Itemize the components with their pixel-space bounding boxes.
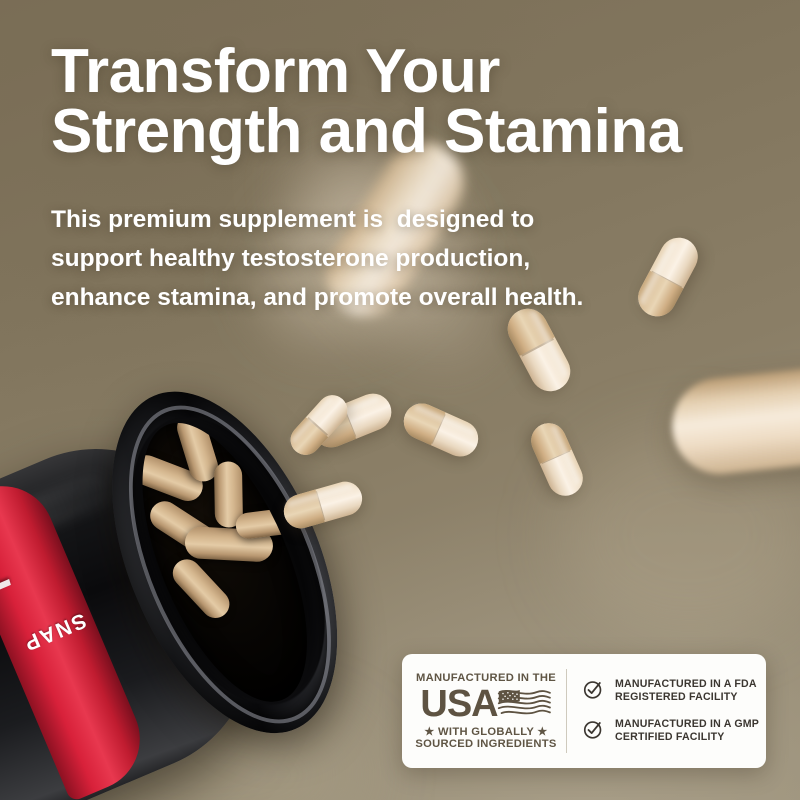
claim-text-fda: MANUFACTURED IN A FDA REGISTERED FACILIT… xyxy=(615,678,757,705)
certification-claim-gmp: MANUFACTURED IN A GMP CERTIFIED FACILITY xyxy=(583,718,766,745)
check-circle-icon xyxy=(583,719,604,740)
certification-claims: MANUFACTURED IN A FDA REGISTERED FACILIT… xyxy=(569,678,766,745)
capsule-floating-5 xyxy=(526,418,589,502)
usa-badge-bottom-line-1: ★ WITH GLOBALLY ★ xyxy=(424,725,547,738)
claim-text-gmp: MANUFACTURED IN A GMP CERTIFIED FACILITY xyxy=(615,718,759,745)
capsule-floating-4 xyxy=(398,398,484,463)
usa-badge-main: USA xyxy=(420,685,551,723)
headline-line-1: Transform Your xyxy=(51,42,741,102)
usa-flag-icon xyxy=(496,687,552,721)
usa-badge: MANUFACTURED IN THE USA xyxy=(402,672,562,750)
promo-banner: TESTO & Vitamins SNAP Transform Your Str… xyxy=(0,0,800,800)
certification-card: MANUFACTURED IN THE USA xyxy=(402,654,766,768)
capsule-foreground-large xyxy=(668,361,800,478)
card-divider xyxy=(566,669,567,753)
headline-line-2: Strength and Stamina xyxy=(51,102,741,162)
hero-subcopy: This premium supplement is designed to s… xyxy=(51,200,691,317)
usa-badge-bottom-line-2: SOURCED INGREDIENTS xyxy=(415,738,556,750)
product-bottle: TESTO & Vitamins SNAP xyxy=(0,305,470,800)
certification-claim-fda: MANUFACTURED IN A FDA REGISTERED FACILIT… xyxy=(583,678,766,705)
usa-badge-country: USA xyxy=(420,685,497,723)
page-title: Transform Your Strength and Stamina xyxy=(51,42,741,162)
claim-line-1: MANUFACTURED IN A GMP xyxy=(615,718,759,731)
claim-line-1: MANUFACTURED IN A FDA xyxy=(615,678,757,691)
claim-line-2: REGISTERED FACILITY xyxy=(615,691,757,704)
claim-line-2: CERTIFIED FACILITY xyxy=(615,731,759,744)
check-circle-icon xyxy=(583,679,604,700)
